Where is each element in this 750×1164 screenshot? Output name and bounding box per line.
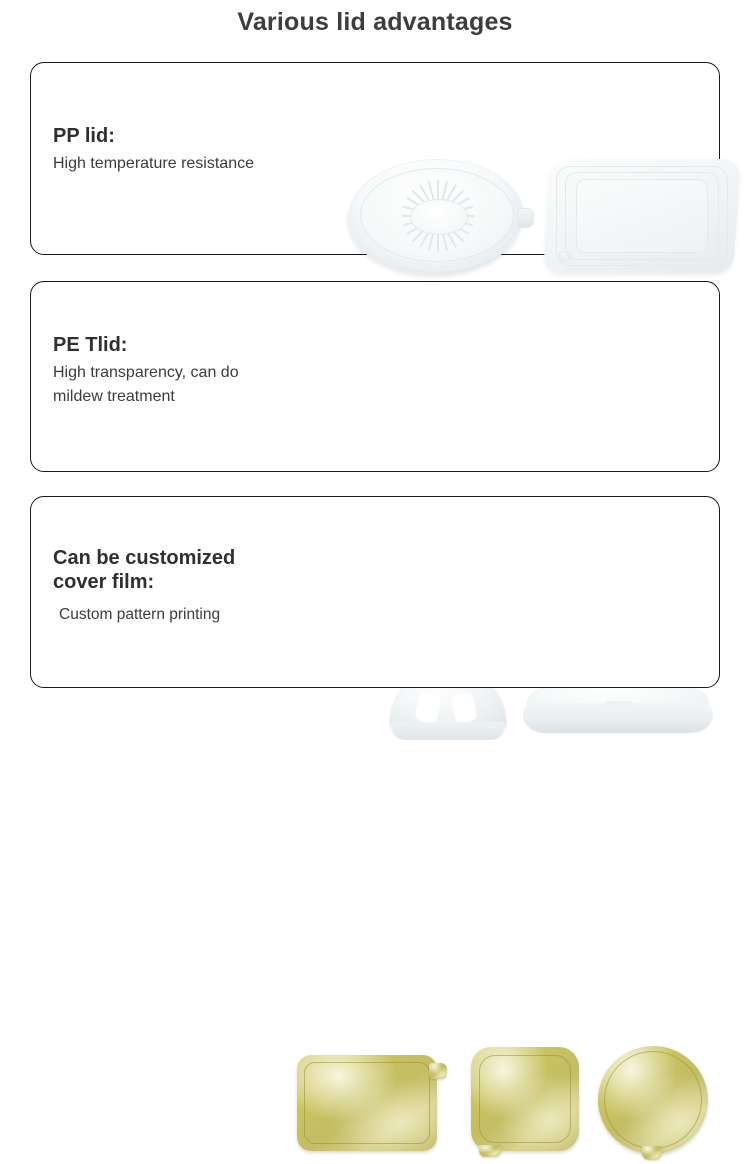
panel-pp-lid-description: High temperature resistance: [53, 152, 254, 177]
panel-cover-film: Can be customized cover film: Custom pat…: [30, 496, 720, 688]
round-lid-center-hub: [410, 199, 468, 235]
gold-square-cover-film-image: [471, 1047, 583, 1159]
panel-pe-lid-heading: PE Tlid:: [53, 334, 239, 358]
panel-cover-film-text-block: Can be customized cover film: Custom pat…: [53, 547, 235, 627]
gold-circle-inner-edge: [604, 1051, 702, 1149]
gold-square-pull-tab: [479, 1145, 501, 1157]
gold-circular-cover-film-image: [598, 1046, 712, 1164]
round-lid-inner-ring: [360, 168, 514, 262]
panel-pe-lid-description: High transparency, can do mildew treatme…: [53, 361, 239, 411]
rectangular-pp-lid-image: [547, 159, 737, 279]
panel-cover-film-heading: Can be customized cover film:: [53, 547, 235, 594]
round-pp-lid-image: [347, 155, 527, 280]
panel-pp-lid: PP lid: High temperature resistance: [30, 62, 720, 255]
panel-pp-lid-text-block: PP lid: High temperature resistance: [53, 125, 254, 176]
page-title: Various lid advantages: [0, 8, 750, 37]
gold-square-inner-edge: [479, 1055, 571, 1143]
gold-circle-pull-tab: [642, 1146, 662, 1160]
gold-rect-inner-edge: [304, 1062, 430, 1144]
panel-cover-film-description: Custom pattern printing: [53, 603, 235, 627]
panel-pp-lid-heading: PP lid:: [53, 125, 254, 149]
panel-pe-lid-text-block: PE Tlid: High transparency, can do milde…: [53, 334, 239, 410]
gold-rect-pull-tab: [429, 1063, 447, 1079]
gold-rectangular-cover-film-image: [297, 1051, 447, 1153]
rect-lid-ridge-inner: [576, 179, 708, 253]
round-lid-tab: [517, 208, 534, 228]
oval-lid-notch: [605, 701, 633, 709]
panel-pe-lid: PE Tlid: High transparency, can do milde…: [30, 281, 720, 472]
dome-lid-base-ring: [391, 722, 505, 740]
rect-lid-corner-nub: [559, 251, 571, 261]
